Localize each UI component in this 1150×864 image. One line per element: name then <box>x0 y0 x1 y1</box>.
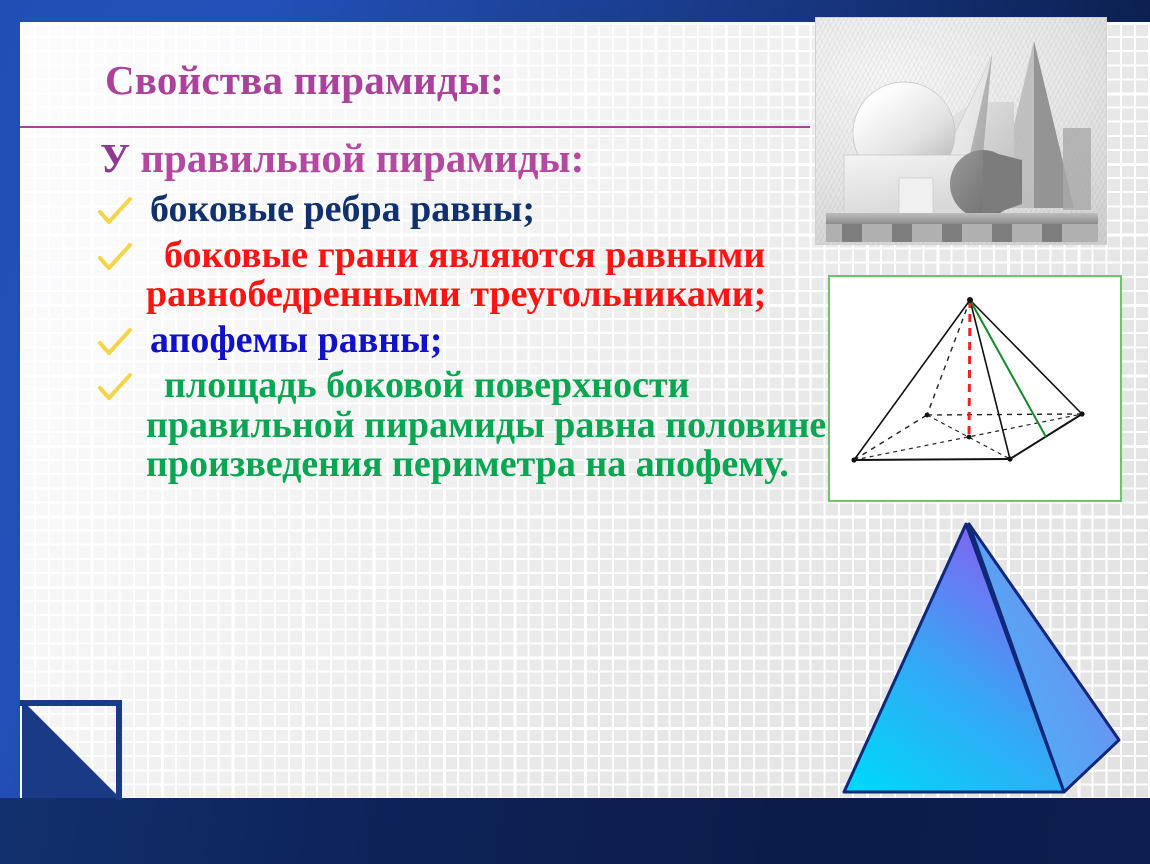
check-icon <box>98 372 132 406</box>
text-content-area: Свойства пирамиды: У правильной пирамиды… <box>20 22 850 798</box>
subtitle-rest: правильной пирамиды: <box>140 135 584 181</box>
check-icon <box>98 327 132 361</box>
check-icon <box>98 242 132 276</box>
list-item: апофемы равны; <box>20 321 820 361</box>
list-item: боковые грани являются равными равнобедр… <box>20 236 820 315</box>
folded-corner-decoration <box>22 700 120 798</box>
title-divider-rule <box>20 126 810 128</box>
list-item-label: апофемы равны; <box>20 321 890 361</box>
list-item-label: боковые грани являются равными равнобедр… <box>20 236 886 315</box>
subtitle-prefix: У <box>100 135 140 181</box>
pyramid-apothem-line <box>970 300 1046 437</box>
list-item: боковые ребра равны; <box>20 190 820 230</box>
bottom-navy-band <box>0 798 1150 864</box>
bullet-list: боковые ребра равны; боковые грани являю… <box>20 190 820 491</box>
check-icon <box>98 196 132 230</box>
blue-pyramid-figure <box>838 500 1150 800</box>
page-title: Свойства пирамиды: <box>105 60 845 101</box>
still-life-drawing <box>816 18 1106 244</box>
still-life-photo <box>816 18 1106 244</box>
page-subtitle: У правильной пирамиды: <box>100 138 840 179</box>
slide-canvas: Свойства пирамиды: У правильной пирамиды… <box>0 0 1150 864</box>
blue-pyramid-svg <box>838 500 1150 800</box>
list-item: площадь боковой поверхности правильной п… <box>20 366 820 485</box>
pyramid-height-line <box>969 300 970 437</box>
pyramid-diagram-svg <box>830 277 1120 500</box>
list-item-label: площадь боковой поверхности правильной п… <box>20 366 886 485</box>
fold-triangle <box>22 700 120 798</box>
pyramid-line-diagram <box>828 275 1122 502</box>
list-item-label: боковые ребра равны; <box>20 190 890 230</box>
